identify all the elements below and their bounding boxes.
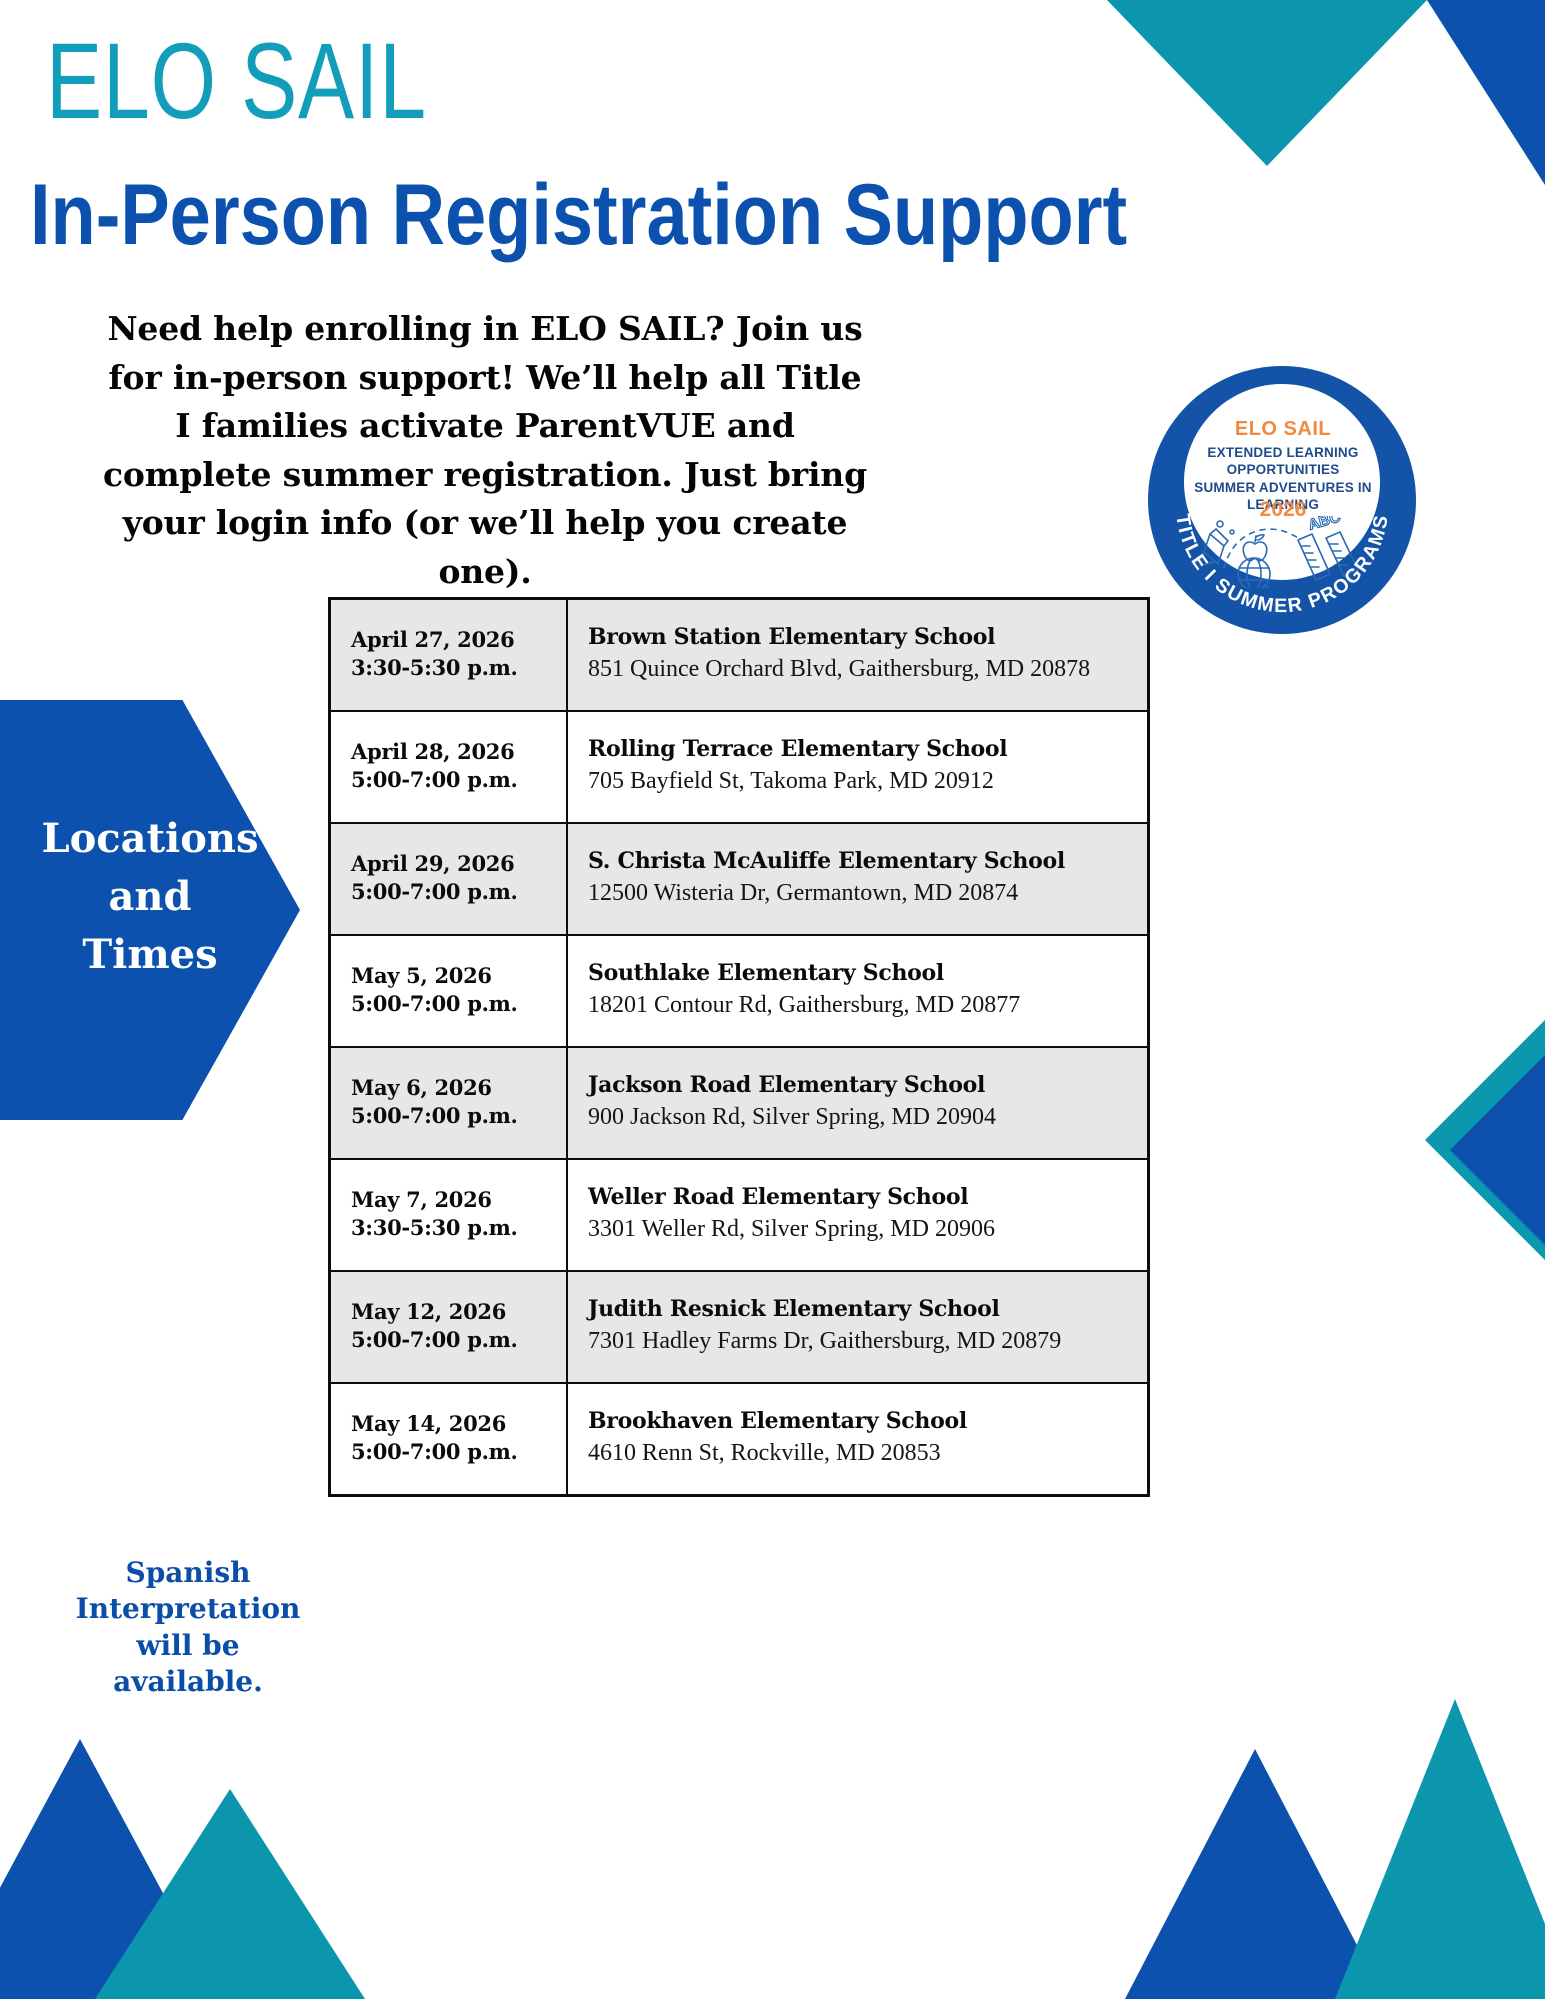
event-date: April 27, 2026	[351, 626, 556, 654]
banner-line-2: and	[0, 868, 300, 926]
school-name: Judith Resnick Elementary School	[588, 1295, 1137, 1324]
program-name-heading: ELO SAIL	[46, 24, 427, 137]
table-row: May 7, 20263:30-5:30 p.m.Weller Road Ele…	[330, 1159, 1149, 1271]
event-time: 3:30-5:30 p.m.	[351, 1214, 556, 1242]
school-address: 18201 Contour Rd, Gaithersburg, MD 20877	[588, 990, 1137, 1021]
event-time: 5:00-7:00 p.m.	[351, 1326, 556, 1354]
school-name: Weller Road Elementary School	[588, 1183, 1137, 1212]
school-address-cell: Brookhaven Elementary School4610 Renn St…	[567, 1383, 1149, 1496]
table-row: April 29, 20265:00-7:00 p.m.S. Christa M…	[330, 823, 1149, 935]
school-address: 3301 Weller Rd, Silver Spring, MD 20906	[588, 1214, 1137, 1245]
school-name: Brown Station Elementary School	[588, 623, 1137, 652]
date-time-cell: May 12, 20265:00-7:00 p.m.	[330, 1271, 568, 1383]
badge-arc-label: TITLE I SUMMER PROGRAMS	[1171, 513, 1393, 618]
school-address-cell: Jackson Road Elementary School900 Jackso…	[567, 1047, 1149, 1159]
date-time-cell: April 29, 20265:00-7:00 p.m.	[330, 823, 568, 935]
table-row: May 6, 20265:00-7:00 p.m.Jackson Road El…	[330, 1047, 1149, 1159]
event-date: May 12, 2026	[351, 1298, 556, 1326]
school-address-cell: Rolling Terrace Elementary School705 Bay…	[567, 711, 1149, 823]
event-date: May 14, 2026	[351, 1410, 556, 1438]
table-row: April 28, 20265:00-7:00 p.m.Rolling Terr…	[330, 711, 1149, 823]
table-row: May 12, 20265:00-7:00 p.m.Judith Resnick…	[330, 1271, 1149, 1383]
page-title: In-Person Registration Support	[30, 170, 1127, 260]
top-right-blue-triangle	[1427, 0, 1545, 185]
school-name: Jackson Road Elementary School	[588, 1071, 1137, 1100]
table-row: May 5, 20265:00-7:00 p.m.Southlake Eleme…	[330, 935, 1149, 1047]
table-row: May 14, 20265:00-7:00 p.m.Brookhaven Ele…	[330, 1383, 1149, 1496]
event-time: 3:30-5:30 p.m.	[351, 654, 556, 682]
intro-paragraph: Need help enrolling in ELO SAIL? Join us…	[100, 305, 870, 596]
event-time: 5:00-7:00 p.m.	[351, 990, 556, 1018]
date-time-cell: May 14, 20265:00-7:00 p.m.	[330, 1383, 568, 1496]
event-time: 5:00-7:00 p.m.	[351, 1438, 556, 1466]
school-address: 4610 Renn St, Rockville, MD 20853	[588, 1438, 1137, 1469]
school-address-cell: Southlake Elementary School18201 Contour…	[567, 935, 1149, 1047]
bottom-left-blue-triangle	[0, 1739, 220, 1999]
school-address: 900 Jackson Rd, Silver Spring, MD 20904	[588, 1102, 1137, 1133]
banner-line-1: Locations	[0, 810, 300, 868]
elo-sail-badge-logo: ELO SAIL EXTENDED LEARNING OPPORTUNITIES…	[1148, 366, 1416, 634]
locations-times-label: Locations and Times	[0, 810, 300, 984]
school-name: Southlake Elementary School	[588, 959, 1137, 988]
spanish-interpretation-note: Spanish Interpretation will be available…	[58, 1555, 318, 1701]
schedule-table: April 27, 20263:30-5:30 p.m.Brown Statio…	[328, 597, 1150, 1497]
school-address: 705 Bayfield St, Takoma Park, MD 20912	[588, 766, 1137, 797]
date-time-cell: May 7, 20263:30-5:30 p.m.	[330, 1159, 568, 1271]
badge-arc-text: TITLE I SUMMER PROGRAMS	[1148, 366, 1416, 634]
bottom-right-teal-triangle	[1335, 1699, 1545, 1999]
event-date: April 28, 2026	[351, 738, 556, 766]
bottom-right-blue-triangle	[1125, 1749, 1385, 1999]
event-time: 5:00-7:00 p.m.	[351, 766, 556, 794]
school-address: 851 Quince Orchard Blvd, Gaithersburg, M…	[588, 654, 1137, 685]
top-right-teal-triangle	[1107, 0, 1427, 166]
school-address-cell: S. Christa McAuliffe Elementary School12…	[567, 823, 1149, 935]
school-address-cell: Brown Station Elementary School851 Quinc…	[567, 599, 1149, 712]
school-name: Rolling Terrace Elementary School	[588, 735, 1137, 764]
event-date: May 6, 2026	[351, 1074, 556, 1102]
event-date: April 29, 2026	[351, 850, 556, 878]
date-time-cell: May 5, 20265:00-7:00 p.m.	[330, 935, 568, 1047]
school-name: S. Christa McAuliffe Elementary School	[588, 847, 1137, 876]
right-middle-teal-chevron	[1425, 1020, 1545, 1260]
flyer-page: ELO SAIL In-Person Registration Support …	[0, 0, 1545, 1999]
school-address-cell: Weller Road Elementary School3301 Weller…	[567, 1159, 1149, 1271]
event-date: May 5, 2026	[351, 962, 556, 990]
date-time-cell: April 27, 20263:30-5:30 p.m.	[330, 599, 568, 712]
date-time-cell: May 6, 20265:00-7:00 p.m.	[330, 1047, 568, 1159]
banner-line-3: Times	[0, 926, 300, 984]
event-time: 5:00-7:00 p.m.	[351, 1102, 556, 1130]
date-time-cell: April 28, 20265:00-7:00 p.m.	[330, 711, 568, 823]
school-address-cell: Judith Resnick Elementary School7301 Had…	[567, 1271, 1149, 1383]
school-address: 12500 Wisteria Dr, Germantown, MD 20874	[588, 878, 1137, 909]
bottom-left-teal-triangle	[95, 1789, 365, 1999]
table-row: April 27, 20263:30-5:30 p.m.Brown Statio…	[330, 599, 1149, 712]
event-time: 5:00-7:00 p.m.	[351, 878, 556, 906]
event-date: May 7, 2026	[351, 1186, 556, 1214]
school-name: Brookhaven Elementary School	[588, 1407, 1137, 1436]
school-address: 7301 Hadley Farms Dr, Gaithersburg, MD 2…	[588, 1326, 1137, 1357]
right-middle-blue-chevron	[1450, 1055, 1545, 1245]
